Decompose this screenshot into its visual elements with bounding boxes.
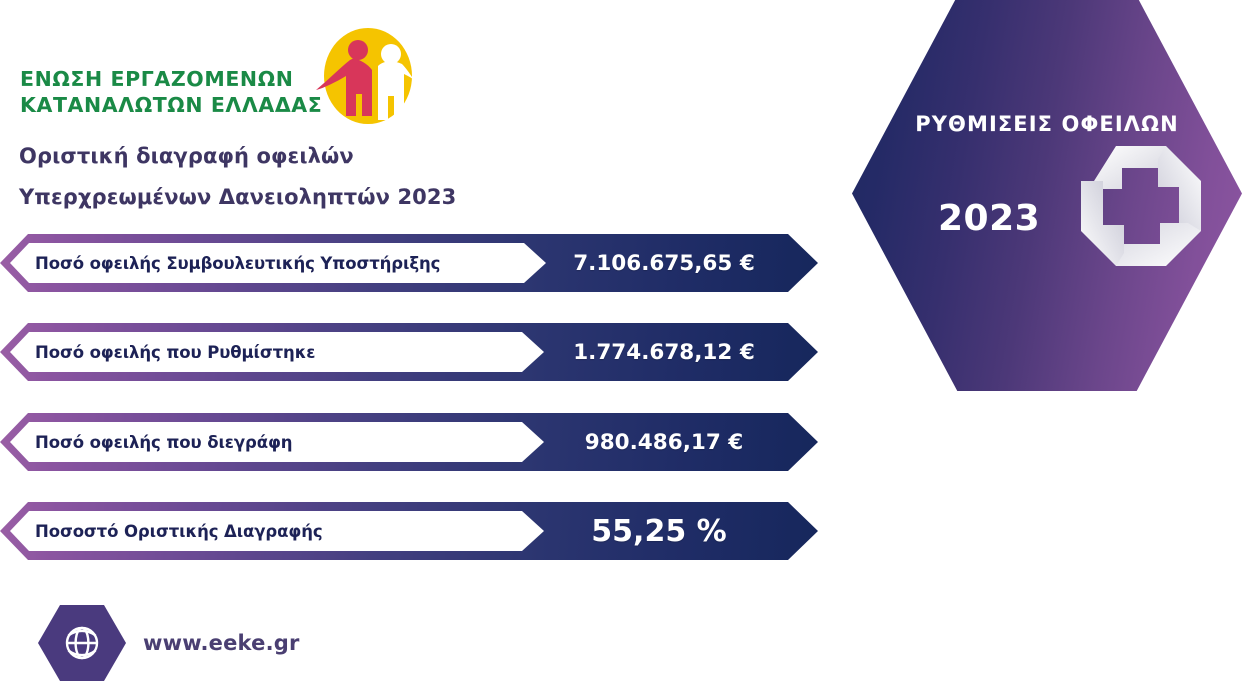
statistics-bar-list: Ποσό οφειλής Συμβουλευτικής Υποστήριξης … [0,234,830,564]
globe-icon[interactable] [38,605,126,681]
statistic-row: Ποσό οφειλής που διεγράφη 980.486,17 € [0,413,818,471]
bar-label: Ποσό οφειλής που Ρυθμίστηκε [35,343,315,362]
page-title-line1: Οριστική διαγραφή οφειλών [19,136,659,177]
bar-value: 1.774.678,12 € [548,323,780,381]
bar-label-plate: Ποσό οφειλής Συμβουλευτικής Υποστήριξης [10,243,546,283]
page-title: Οριστική διαγραφή οφειλών Υπερχρεωμένων … [19,136,659,218]
statistic-row: Ποσό οφειλής που Ρυθμίστηκε 1.774.678,12… [0,323,818,381]
bar-label: Ποσό οφειλής που διεγράφη [35,433,292,452]
statistic-row: Ποσό οφειλής Συμβουλευτικής Υποστήριξης … [0,234,818,292]
logo-people-circle-icon [306,24,414,128]
footer: www.eeke.gr [38,605,368,685]
statistic-row: Ποσοστό Οριστικής Διαγραφής 55,25 % [0,502,818,560]
bar-label-plate: Ποσοστό Οριστικής Διαγραφής [10,511,544,551]
badge-title: ΡΥΘΜΙΣΕΙΣ ΟΦΕΙΛΩΝ [852,112,1242,136]
logo-wordmark-line1: ΕΝΩΣΗ ΕΡΓΑΖΟΜΕΝΩΝ [20,66,322,92]
octagon-pinwheel-icon [1080,146,1202,266]
bar-value: 7.106.675,65 € [548,234,780,292]
bar-label: Ποσό οφειλής Συμβουλευτικής Υποστήριξης [35,254,440,273]
website-url[interactable]: www.eeke.gr [143,631,300,655]
bar-label-plate: Ποσό οφειλής που Ρυθμίστηκε [10,332,544,372]
bar-value: 980.486,17 € [548,413,780,471]
hexagon-badge: ΡΥΘΜΙΣΕΙΣ ΟΦΕΙΛΩΝ 2023 [852,0,1242,391]
badge-year: 2023 [938,198,1040,239]
logo-wordmark-line2: ΚΑΤΑΝΑΛΩΤΩΝ ΕΛΛΑΔΑΣ [20,92,322,118]
logo-wordmark: ΕΝΩΣΗ ΕΡΓΑΖΟΜΕΝΩΝ ΚΑΤΑΝΑΛΩΤΩΝ ΕΛΛΑΔΑΣ [20,66,322,118]
organization-logo: ΕΝΩΣΗ ΕΡΓΑΖΟΜΕΝΩΝ ΚΑΤΑΝΑΛΩΤΩΝ ΕΛΛΑΔΑΣ [18,18,418,128]
bar-label-plate: Ποσό οφειλής που διεγράφη [10,422,544,462]
page-title-line2: Υπερχρεωμένων Δανειοληπτών 2023 [19,177,659,218]
bar-value: 55,25 % [548,502,770,560]
bar-label: Ποσοστό Οριστικής Διαγραφής [35,522,323,541]
